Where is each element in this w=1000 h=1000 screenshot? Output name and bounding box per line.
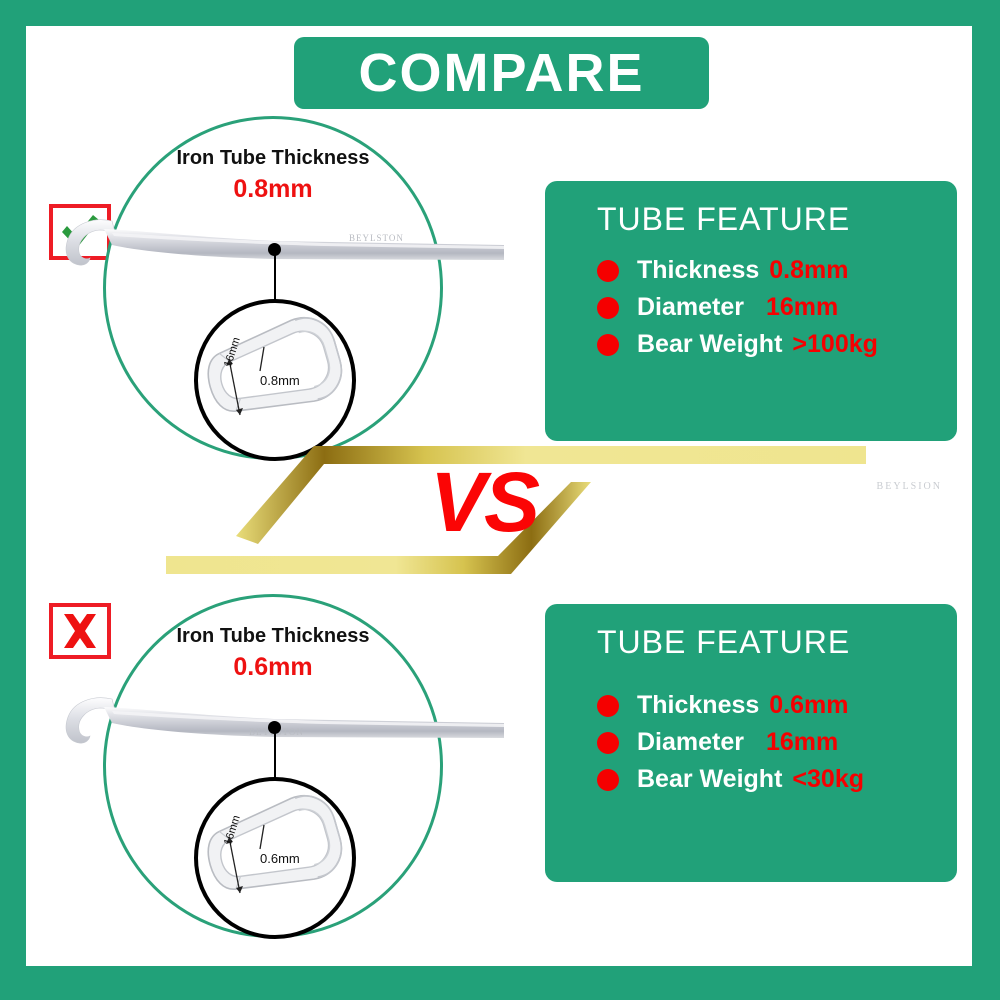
bullet-dot-icon [597,260,619,282]
circle-title: Iron Tube Thickness [106,147,440,170]
callout-line [274,250,276,306]
feature-item: Bear Weight <30kg [545,765,957,794]
feature-label: Thickness [637,256,759,285]
tube-cross-section-inset-bad: 0.6mm 16mm [194,777,356,939]
feature-item: Diameter 16mm [545,293,957,322]
infographic-frame: COMPARE Iron Tube Thickness 0.8mm [0,0,1000,1000]
feature-item: Bear Weight >100kg [545,330,957,359]
callout-line [274,728,276,784]
inset-thickness-label: 0.6mm [260,851,300,866]
feature-value: 16mm [766,293,838,322]
feature-label: Bear Weight [637,330,782,359]
feature-value: >100kg [792,330,878,359]
status-badge-cross [49,603,111,659]
feature-box-title: TUBE FEATURE [545,624,957,661]
comparison-row-good: Iron Tube Thickness 0.8mm [26,108,972,468]
circle-title: Iron Tube Thickness [106,625,440,648]
feature-list: Thickness 0.8mm Diameter 16mm Bear Weigh… [545,256,957,359]
feature-item: Thickness 0.8mm [545,256,957,285]
bullet-dot-icon [597,732,619,754]
circle-value: 0.8mm [106,175,440,204]
tube-circle-good: Iron Tube Thickness 0.8mm [103,116,443,460]
feature-box-bad: TUBE FEATURE Thickness 0.6mm Diameter 16… [545,604,957,882]
feature-label: Bear Weight [637,765,782,794]
comparison-row-bad: Iron Tube Thickness 0.6mm [26,588,972,948]
vs-divider: VS [166,426,866,591]
bullet-dot-icon [597,297,619,319]
corner-watermark: BEYLSION [877,481,942,492]
page-title-badge: COMPARE [294,37,709,109]
feature-value: 0.6mm [769,691,848,720]
feature-label: Diameter [637,728,744,757]
cross-icon [60,612,100,650]
feature-label: Thickness [637,691,759,720]
feature-box-good: TUBE FEATURE Thickness 0.8mm Diameter 16… [545,181,957,441]
feature-box-title: TUBE FEATURE [545,201,957,238]
vs-label: VS [430,460,538,544]
feature-value: 16mm [766,728,838,757]
bullet-dot-icon [597,695,619,717]
tube-circle-bad: Iron Tube Thickness 0.6mm [103,594,443,938]
feature-label: Diameter [637,293,744,322]
circle-value: 0.6mm [106,653,440,682]
bullet-dot-icon [597,334,619,356]
feature-value: 0.8mm [769,256,848,285]
feature-value: <30kg [792,765,864,794]
page-title: COMPARE [358,46,644,100]
feature-item: Diameter 16mm [545,728,957,757]
bullet-dot-icon [597,769,619,791]
infographic-canvas: COMPARE Iron Tube Thickness 0.8mm [26,26,972,966]
feature-list: Thickness 0.6mm Diameter 16mm Bear Weigh… [545,691,957,794]
inset-thickness-label: 0.8mm [260,373,300,388]
feature-item: Thickness 0.6mm [545,691,957,720]
